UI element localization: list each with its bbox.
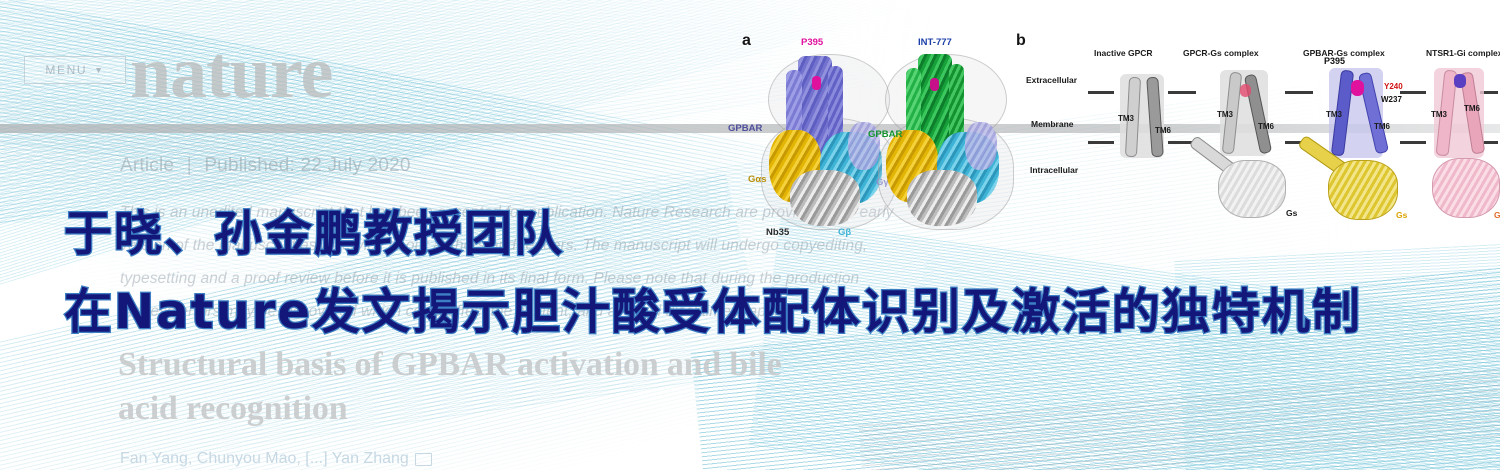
membrane-line-c4-top-l [1400,91,1426,94]
membrane-line-c1-top-r [1168,91,1196,94]
author-names: Fan Yang, Chunyou Mao, [...] Yan Zhang [120,450,409,468]
ligand-pocket-c2 [1240,84,1251,97]
panel-b-col1-title: Inactive GPCR [1094,48,1153,58]
receptor-label-gpbar-1: GPBAR [728,123,762,134]
ligand-label-int777: INT-777 [918,37,952,48]
w237-label-c3: W237 [1381,95,1402,104]
tm6-label-c2: TM6 [1258,122,1274,131]
article-published-date: Published: 22 July 2020 [204,155,410,176]
tm3-label-c2: TM3 [1217,110,1233,119]
ligand-pocket-c3 [1351,80,1364,96]
tm3-label-c3: TM3 [1326,110,1342,119]
g-protein-body-c2 [1218,160,1286,218]
chevron-down-icon: ▼ [94,65,105,75]
article-meta: Article | Published: 22 July 2020 [120,155,411,177]
headline-line-1: 于晓、孙金鹏教授团队 [64,194,564,264]
author-list: Fan Yang, Chunyou Mao, [...] Yan Zhang [120,450,432,468]
ligand-density-2 [930,78,939,91]
gs-label-c2: Gs [1286,208,1297,218]
panel-b-col4-title: NTSR1-Gi complex [1426,48,1500,58]
nb35-2 [907,170,977,226]
wave-bottom-right-grey [858,365,1500,470]
page-title: Structural basis of GPBAR activation and… [118,343,818,431]
panel-b-col2-title: GPCR-Gs complex [1183,48,1259,58]
receptor-label-gpbar-2: GPBAR [868,129,902,140]
g-protein-body-c4 [1432,158,1500,218]
membrane-line-c3-top-l [1286,91,1312,94]
panel-b-axis-intracellular: Intracellular [1030,165,1078,175]
menu-button[interactable]: MENU ▼ [24,56,126,84]
g-alpha-s-label-1: Gαs [748,174,767,185]
nature-logo[interactable]: nature [130,36,332,110]
tm3-label-c1: TM3 [1118,114,1134,123]
panel-b-axis-extracellular: Extracellular [1026,75,1077,85]
panel-a-letter: a [742,32,751,50]
gs-label-c3: Gs [1396,210,1407,220]
ligand-density-1 [812,76,821,90]
p395-label-c3: P395 [1324,56,1345,66]
meta-separator: | [180,155,199,176]
scientific-figure: a P395 GPBAR Gαs Gγ Gβ Nb35 INT-777 GP [728,22,1498,267]
panel-b-axis-membrane: Membrane [1031,119,1074,129]
nb35-label-1: Nb35 [766,227,789,238]
ligand-pocket-c4 [1454,74,1466,88]
tm3-label-c4: TM3 [1431,110,1447,119]
panel-b-letter: b [1016,32,1026,50]
tm6-label-c3: TM6 [1374,122,1390,131]
g-beta-label-1: Gβ [838,227,851,238]
nb35-1 [790,170,860,226]
ligand-label-p395: P395 [801,37,823,48]
membrane-line-c1-top [1088,91,1114,94]
envelope-icon[interactable] [415,453,432,466]
nature-article-banner: MENU ▼ nature Article | Published: 22 Ju… [0,0,1500,470]
menu-label: MENU [45,63,87,77]
article-type: Article [120,155,174,176]
headline-line-2: 在Nature发文揭示胆汁酸受体配体识别及激活的独特机制 [64,272,1362,342]
membrane-line-c1-bot [1088,141,1114,144]
g-gamma-2 [965,122,997,170]
membrane-line-c4-bot-l [1400,141,1426,144]
y240-label-c3: Y240 [1384,82,1403,91]
tm6-label-c1: TM6 [1155,126,1171,135]
tm6-label-c4: TM6 [1464,104,1480,113]
g-protein-body-c3 [1328,160,1398,220]
gi-label-c4: Gi [1494,210,1500,220]
